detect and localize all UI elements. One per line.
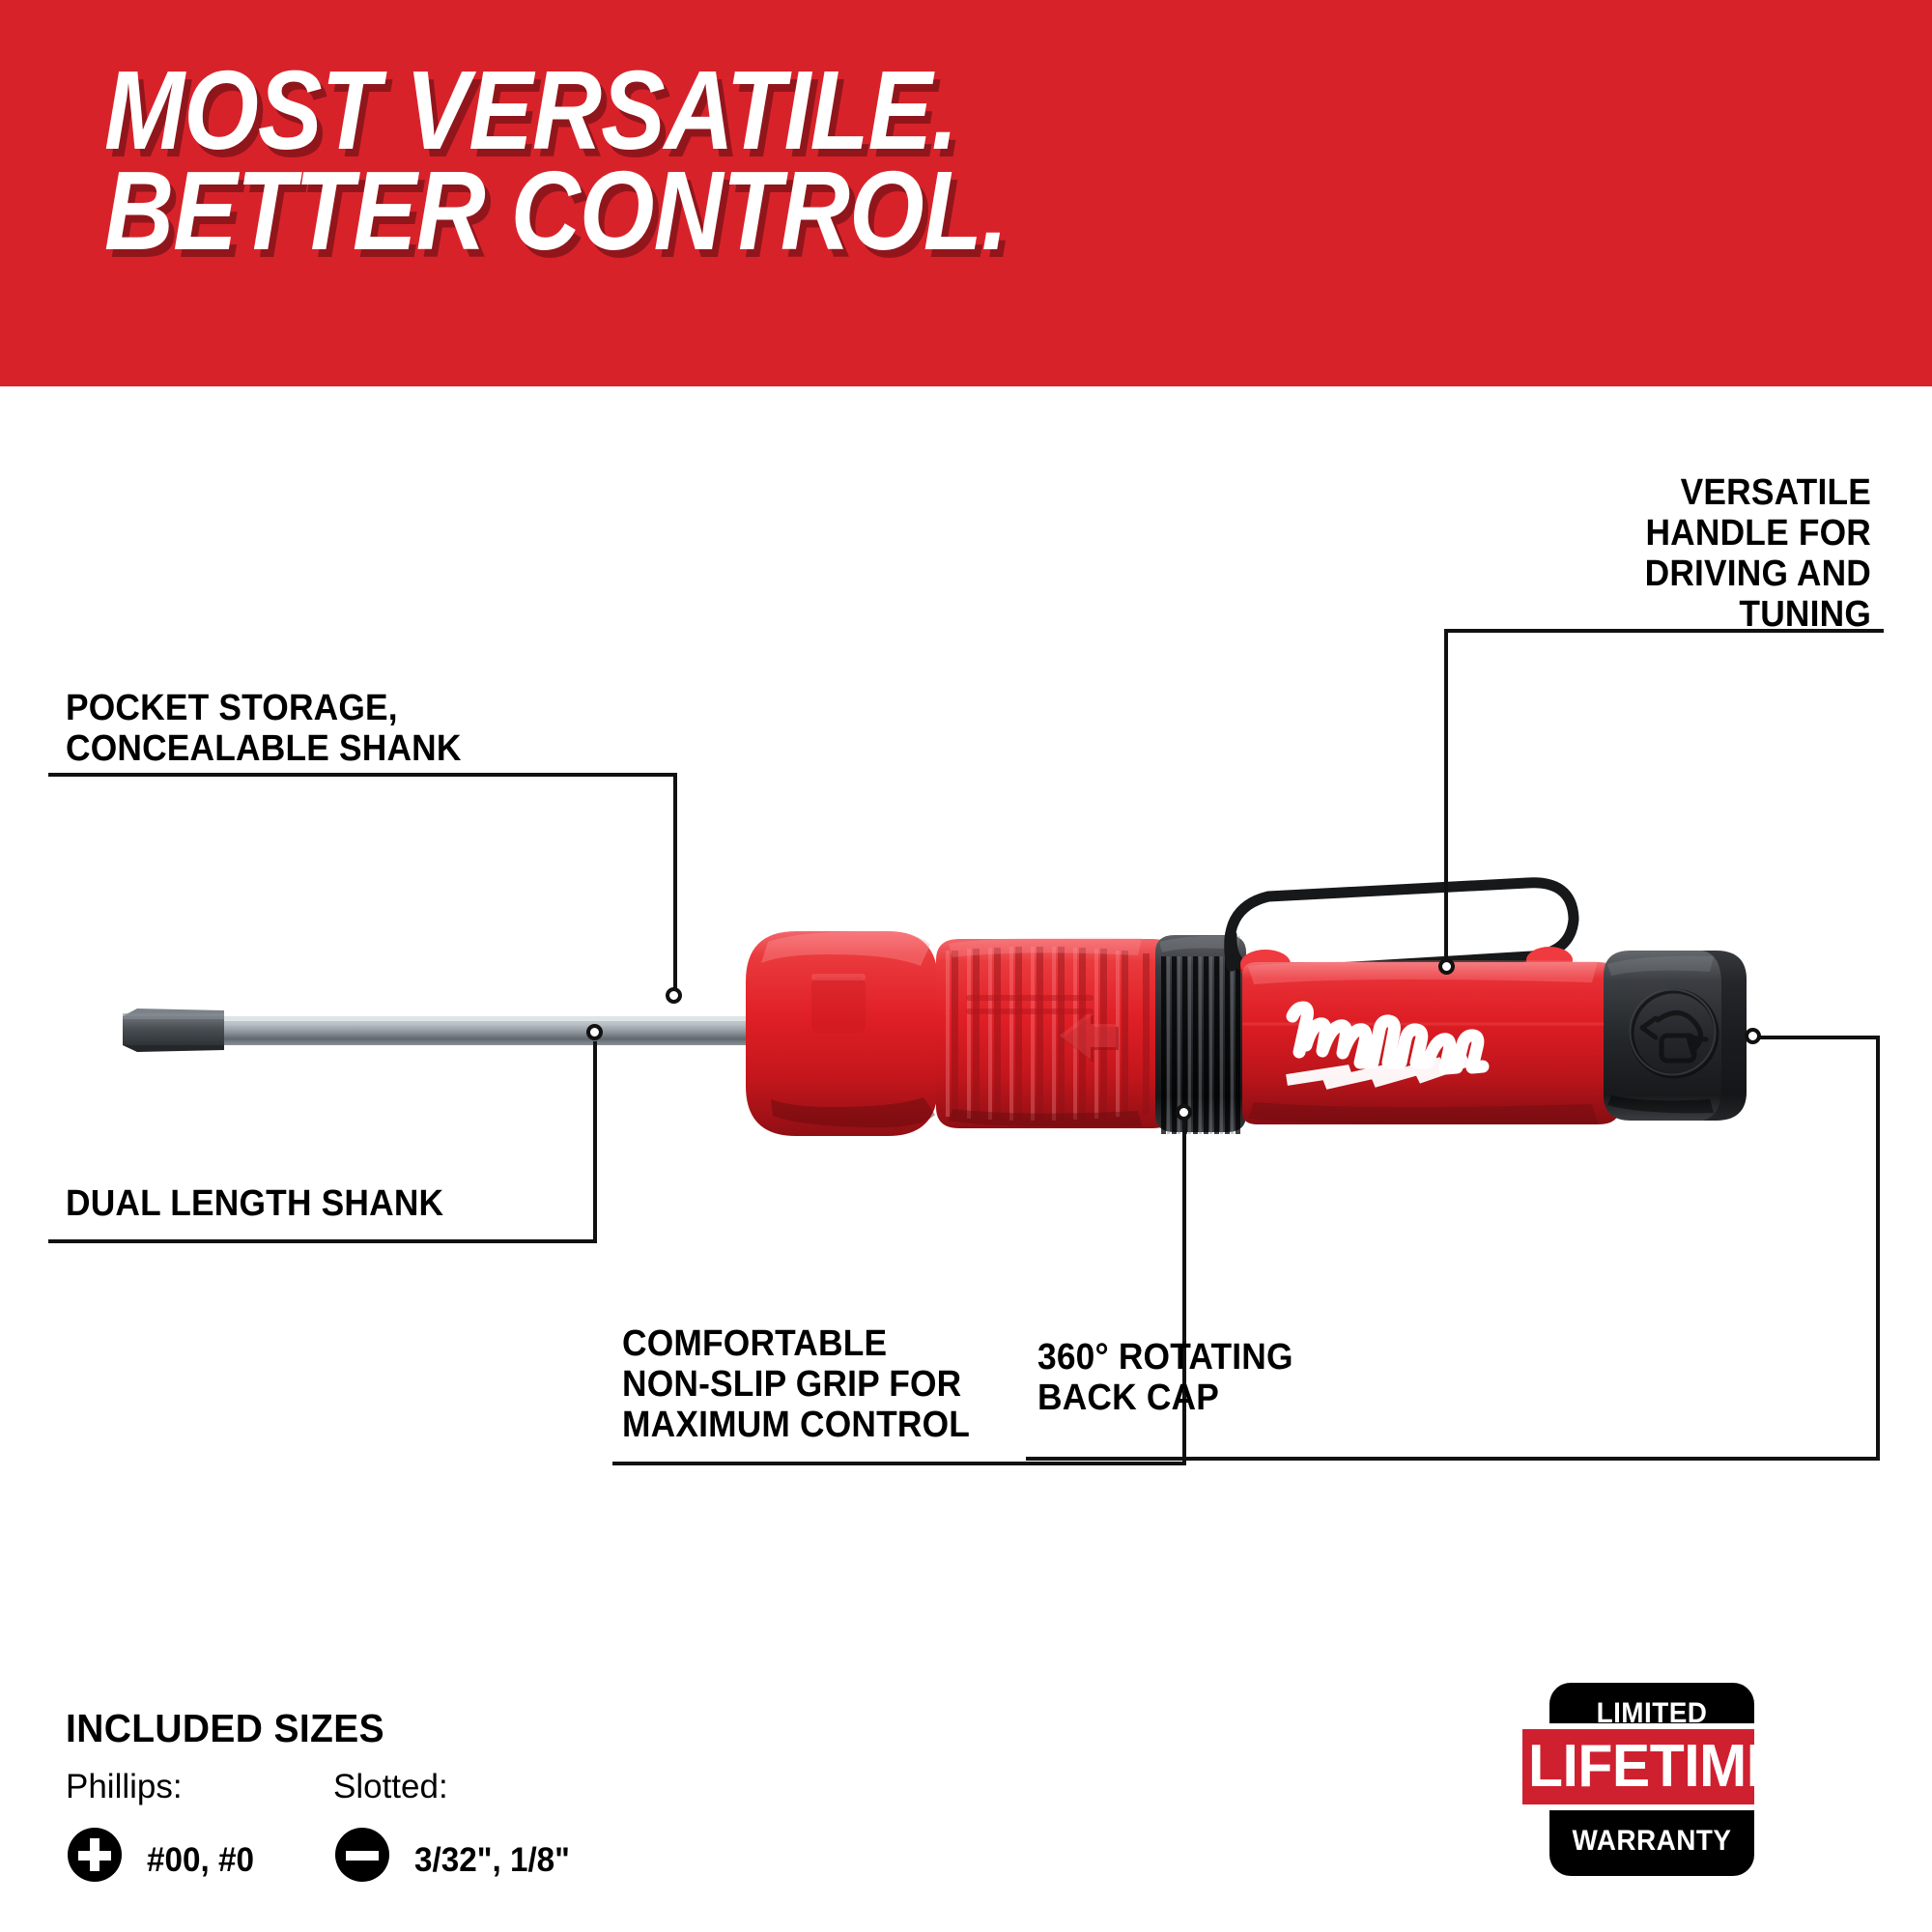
size-label-phillips: Phillips:	[66, 1768, 183, 1806]
callout-comfortable-grip-line-3: MAXIMUM CONTROL	[622, 1405, 970, 1445]
slotted-bit-icon	[335, 1828, 389, 1882]
marker-versatile-handle	[1438, 958, 1455, 975]
callout-versatile-handle: VERSATILE HANDLE FOR DRIVING AND TUNING	[1332, 472, 1871, 635]
leader-back-cap-rise	[1876, 1036, 1880, 1461]
callout-comfortable-grip-line-2: NON-SLIP GRIP FOR	[622, 1364, 970, 1405]
leader-back-cap-arm	[1756, 1036, 1880, 1039]
callout-comfortable-grip: COMFORTABLE NON-SLIP GRIP FOR MAXIMUM CO…	[622, 1323, 970, 1445]
warranty-badge: LIMITED WARRANTY LIFETIME	[1536, 1683, 1768, 1876]
screwdriver-product-image	[0, 0, 1932, 1932]
marker-comfortable-grip	[1176, 1104, 1192, 1121]
warranty-warranty-text: WARRANTY	[1556, 1825, 1747, 1858]
marker-pocket-storage	[666, 987, 682, 1004]
fluted-grip	[936, 938, 1176, 1128]
callout-versatile-handle-line-1: VERSATILE	[1332, 472, 1871, 513]
callout-versatile-handle-line-2: HANDLE FOR	[1332, 513, 1871, 554]
leader-back-cap-underline	[1026, 1457, 1880, 1461]
marker-dual-length-shank	[586, 1024, 603, 1040]
phillips-bit-icon	[68, 1828, 122, 1882]
front-collar	[746, 931, 938, 1136]
callout-rotating-back-cap: 360° ROTATING BACK CAP	[1037, 1337, 1293, 1418]
callout-rotating-back-cap-line-2: BACK CAP	[1037, 1378, 1293, 1418]
warranty-limited-text: LIMITED	[1556, 1697, 1747, 1730]
size-value-slotted: 3/32", 1/8"	[414, 1841, 570, 1880]
callout-pocket-storage-line-2: CONCEALABLE SHANK	[66, 728, 462, 769]
callout-dual-length-shank: DUAL LENGTH SHANK	[66, 1183, 443, 1224]
callout-pocket-storage: POCKET STORAGE, CONCEALABLE SHANK	[66, 688, 462, 769]
leader-versatile-handle-drop	[1444, 629, 1448, 966]
leader-versatile-handle-underline	[1444, 629, 1884, 633]
leader-dual-length-underline	[48, 1239, 597, 1243]
leader-pocket-storage-drop	[673, 773, 677, 997]
callout-rotating-back-cap-line-1: 360° ROTATING	[1037, 1337, 1293, 1378]
callout-dual-length-shank-line-1: DUAL LENGTH SHANK	[66, 1183, 443, 1224]
leader-dual-length-rise	[593, 1041, 597, 1241]
marker-rotating-back-cap	[1745, 1028, 1761, 1044]
shank	[123, 1009, 751, 1052]
rotating-back-cap	[1604, 951, 1747, 1121]
warranty-red-band: LIFETIME	[1522, 1729, 1754, 1804]
handle-body	[1242, 960, 1619, 1124]
callout-comfortable-grip-line-1: COMFORTABLE	[622, 1323, 970, 1364]
size-value-phillips: #00, #0	[147, 1841, 254, 1880]
leader-comfortable-grip-underline	[612, 1462, 1186, 1465]
callout-versatile-handle-line-3: DRIVING AND	[1332, 554, 1871, 594]
product-infographic: MOST VERSATILE. BETTER CONTROL.	[0, 0, 1932, 1932]
leader-pocket-storage-underline	[48, 773, 677, 777]
warranty-lifetime-text: LIFETIME	[1528, 1729, 1748, 1804]
size-label-slotted: Slotted:	[333, 1768, 448, 1806]
included-sizes-title: INCLUDED SIZES	[66, 1706, 384, 1751]
callout-pocket-storage-line-1: POCKET STORAGE,	[66, 688, 462, 728]
